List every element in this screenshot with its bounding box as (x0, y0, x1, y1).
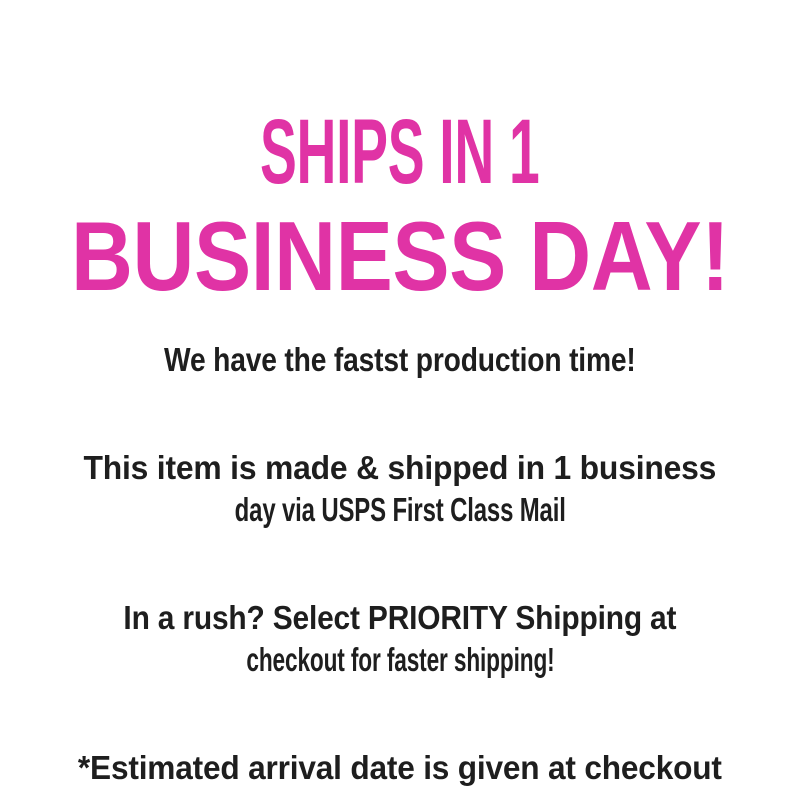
priority-upgrade-line-2: checkout for faster shipping! (246, 639, 554, 681)
headline: SHIPS IN 1 BUSINESS DAY! (0, 0, 800, 306)
shipping-promo-poster: SHIPS IN 1 BUSINESS DAY! We have the fas… (0, 0, 800, 800)
shipping-method-text: This item is made & shipped in 1 busines… (4, 447, 796, 531)
priority-upgrade-text: In a rush? Select PRIORITY Shipping at c… (4, 597, 796, 681)
arrival-estimate-line-1: *Estimated arrival date is given at chec… (78, 747, 722, 789)
shipping-method-line-2: day via USPS First Class Mail (234, 489, 565, 531)
priority-upgrade-line-1: In a rush? Select PRIORITY Shipping at (124, 597, 677, 639)
headline-line-2: BUSINESS DAY! (71, 200, 729, 306)
production-time-line-1: We have the fastst production time! (164, 339, 636, 381)
shipping-method-line-1: This item is made & shipped in 1 busines… (84, 447, 717, 489)
production-time-text: We have the fastst production time! (4, 339, 796, 381)
arrival-estimate-text: *Estimated arrival date is given at chec… (4, 747, 796, 789)
headline-line-1: SHIPS IN 1 (260, 0, 539, 200)
